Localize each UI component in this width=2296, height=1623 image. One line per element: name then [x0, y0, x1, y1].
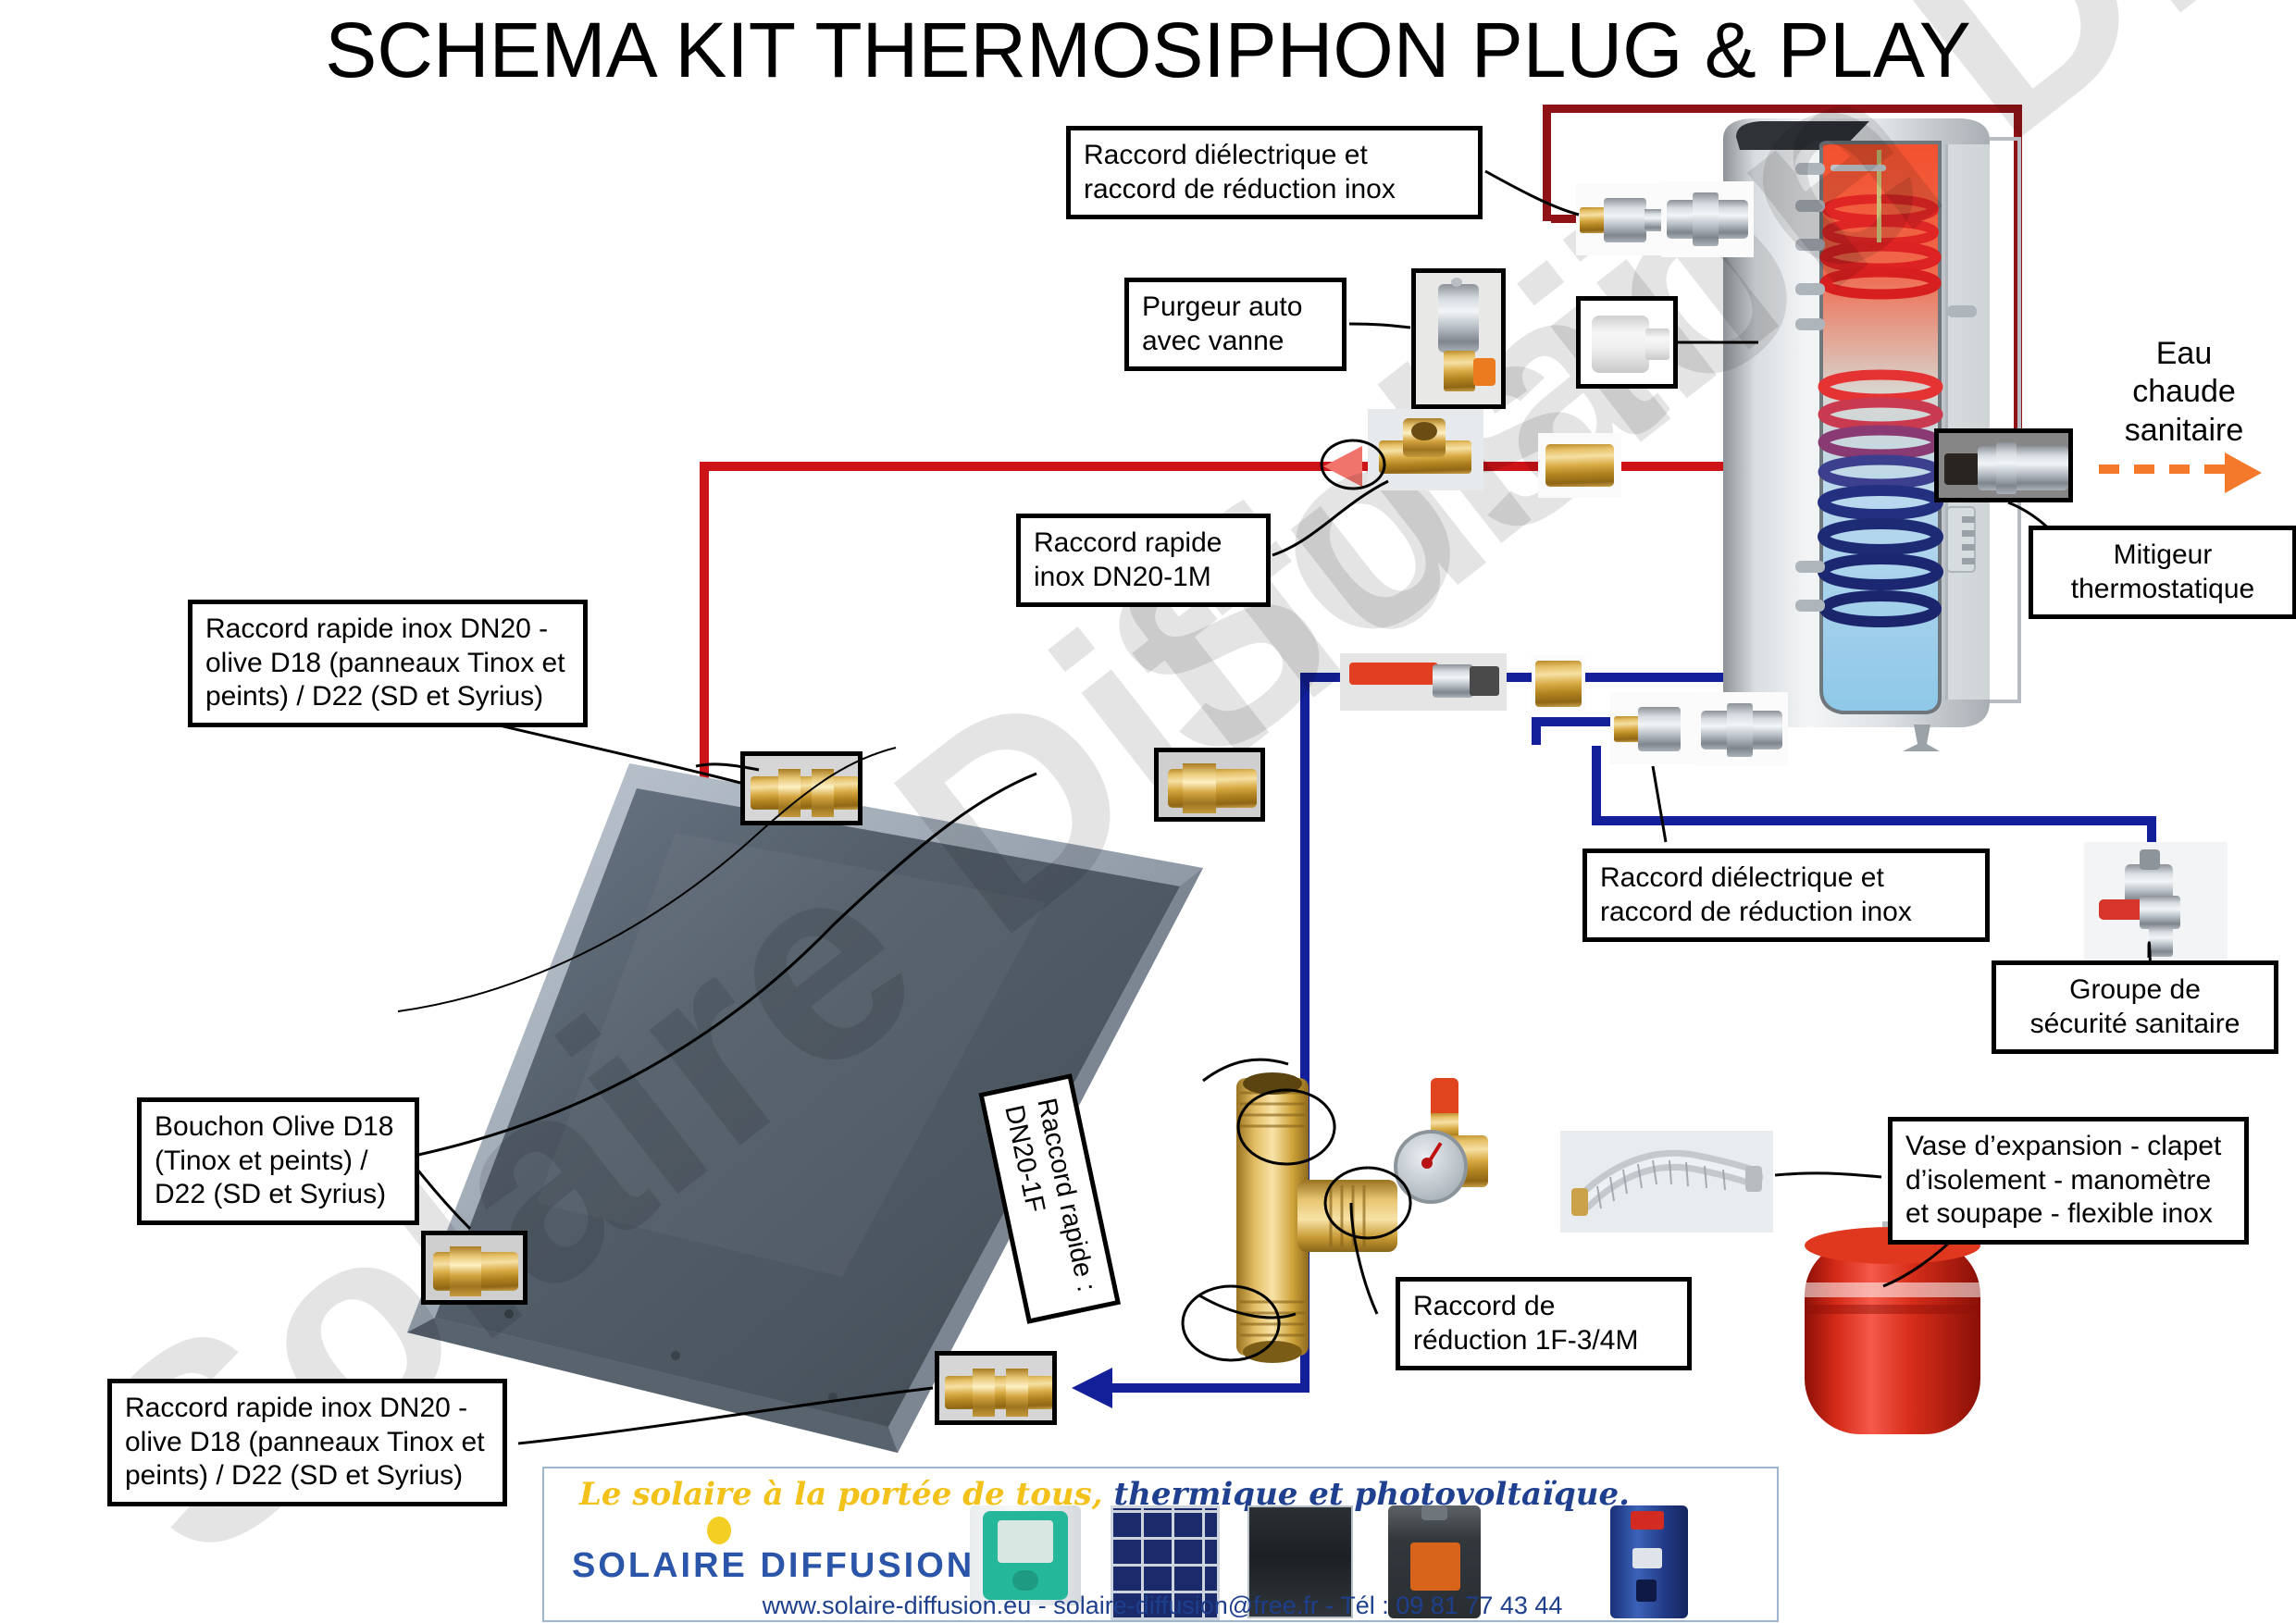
callout-raccord-rapide-top-left-line1: Raccord rapide inox DN20 -: [205, 613, 570, 647]
callout-dielectric-bottom: Raccord diélectrique et raccord de réduc…: [1582, 849, 1990, 942]
page-title: SCHEMA KIT THERMOSIPHON PLUG & PLAY: [0, 6, 2296, 95]
callout-raccord-rapide-top-left-line3: peints) / D22 (SD et Syrius): [205, 680, 570, 714]
callout-raccord-rapide-bottom-left: Raccord rapide inox DN20 - olive D18 (pa…: [107, 1379, 507, 1506]
callout-groupe-securite-line2: sécurité sanitaire: [2009, 1008, 2261, 1042]
pipe-red-horizontal-top: [700, 462, 1403, 471]
pipe-red-arrow-left: [1323, 446, 1362, 487]
solar-panel: [398, 759, 1231, 1462]
callout-bouchon-olive-line1: Bouchon Olive D18: [155, 1110, 402, 1145]
callout-bouchon-olive-line3: D22 (SD et Syrius): [155, 1178, 402, 1212]
arrow-eau-chaude-head: [2225, 452, 2262, 493]
callout-dielectric-top-line2: raccord de réduction inox: [1084, 173, 1465, 207]
callout-vase-expansion-line3: et soupape - flexible inox: [1905, 1197, 2231, 1232]
callout-raccord-reduction: Raccord de réduction 1F-3/4M: [1396, 1277, 1692, 1370]
callout-raccord-rapide-1m-line2: inox DN20-1M: [1034, 561, 1253, 595]
callout-bouchon-olive: Bouchon Olive D18 (Tinox et peints) / D2…: [137, 1097, 419, 1225]
photo-panel-coupler-top-right: [1154, 748, 1265, 822]
label-eau-chaude-line1: Eau: [2073, 335, 2295, 373]
arrow-eau-chaude: [2099, 465, 2228, 474]
photo-ball-valve: [1340, 653, 1507, 711]
pipe-dark-red-left-vertical: [1543, 105, 1551, 221]
photo-nipple-top: [1661, 181, 1754, 257]
photo-quick-coupler-1m: [1538, 433, 1621, 498]
photo-panel-coupler-bottom: [935, 1351, 1057, 1425]
callout-dielectric-top: Raccord diélectrique et raccord de réduc…: [1066, 126, 1483, 219]
photo-white-plug: [1576, 296, 1678, 389]
callout-bouchon-olive-line2: (Tinox et peints) /: [155, 1145, 402, 1179]
callout-vase-expansion-line2: d’isolement - manomètre: [1905, 1164, 2231, 1198]
banner-contact: www.solaire-diffusion.eu - solaire-diffu…: [544, 1592, 1779, 1620]
callout-mitigeur-line1: Mitigeur: [2046, 539, 2279, 573]
callout-groupe-securite: Groupe de sécurité sanitaire: [1992, 960, 2278, 1054]
photo-nipple-bottom: [1695, 692, 1788, 766]
callout-purgeur-line1: Purgeur auto: [1142, 291, 1329, 325]
photo-dielectric-union-bottom: [1610, 692, 1699, 764]
photo-manometer-group: [1388, 1078, 1518, 1226]
label-eau-chaude-line2: chaude: [2073, 373, 2295, 411]
callout-dielectric-top-line1: Raccord diélectrique et: [1084, 139, 1465, 173]
callout-raccord-rapide-bottom-left-line1: Raccord rapide inox DN20 -: [125, 1392, 490, 1426]
callout-purgeur-line2: avec vanne: [1142, 325, 1329, 359]
pipe-blue-lower-left-vertical: [1592, 746, 1601, 825]
callout-dielectric-bottom-line2: raccord de réduction inox: [1600, 896, 1972, 930]
photo-tee-fitting: [1368, 409, 1483, 490]
company-name: SOLAIRE DIFFUSION: [572, 1546, 974, 1586]
callout-groupe-securite-line1: Groupe de: [2009, 973, 2261, 1008]
sun-icon: [707, 1517, 731, 1544]
callout-raccord-reduction-line2: réduction 1F-3/4M: [1413, 1324, 1674, 1358]
callout-mitigeur-line2: thermostatique: [2046, 573, 2279, 607]
callout-raccord-rapide-1m-line1: Raccord rapide: [1034, 527, 1253, 561]
photo-brass-sleeve: [1532, 655, 1585, 712]
callout-vase-expansion-line1: Vase d’expansion - clapet: [1905, 1130, 2231, 1164]
photo-panel-coupler-mid-left: [421, 1231, 527, 1305]
callout-raccord-rapide-1m: Raccord rapide inox DN20-1M: [1016, 514, 1271, 607]
callout-raccord-reduction-line1: Raccord de: [1413, 1290, 1674, 1324]
pipe-blue-lower-right: [1592, 816, 2156, 825]
callout-dielectric-bottom-line1: Raccord diélectrique et: [1600, 861, 1972, 896]
callout-raccord-rapide-top-left-line2: olive D18 (panneaux Tinox et: [205, 647, 570, 681]
photo-purgeur-auto: [1411, 268, 1506, 409]
photo-big-tee: [1220, 1069, 1405, 1374]
company-banner: Le solaire à la portée de tous, thermiqu…: [542, 1467, 1779, 1622]
photo-panel-coupler-top-left: [740, 751, 863, 825]
photo-flex-hose: [1560, 1131, 1773, 1233]
callout-raccord-rapide-top-left: Raccord rapide inox DN20 - olive D18 (pa…: [188, 600, 588, 727]
photo-dielectric-union-top: [1576, 183, 1665, 255]
label-eau-chaude-line3: sanitaire: [2073, 412, 2295, 450]
callout-raccord-rapide-bottom-left-line2: olive D18 (panneaux Tinox et: [125, 1426, 490, 1460]
callout-raccord-rapide-bottom-left-line3: peints) / D22 (SD et Syrius): [125, 1459, 490, 1493]
callout-vase-expansion: Vase d’expansion - clapet d’isolement - …: [1888, 1117, 2249, 1245]
label-eau-chaude-sanitaire: Eau chaude sanitaire: [2073, 335, 2295, 450]
photo-expansion-vessel: [1786, 1221, 1999, 1453]
callout-purgeur: Purgeur auto avec vanne: [1124, 278, 1347, 371]
photo-mitigeur-thermostatique: [1934, 428, 2073, 502]
photo-groupe-securite: [2084, 842, 2228, 976]
callout-mitigeur: Mitigeur thermostatique: [2029, 526, 2296, 619]
banner-product-regulator: [970, 1505, 1081, 1605]
